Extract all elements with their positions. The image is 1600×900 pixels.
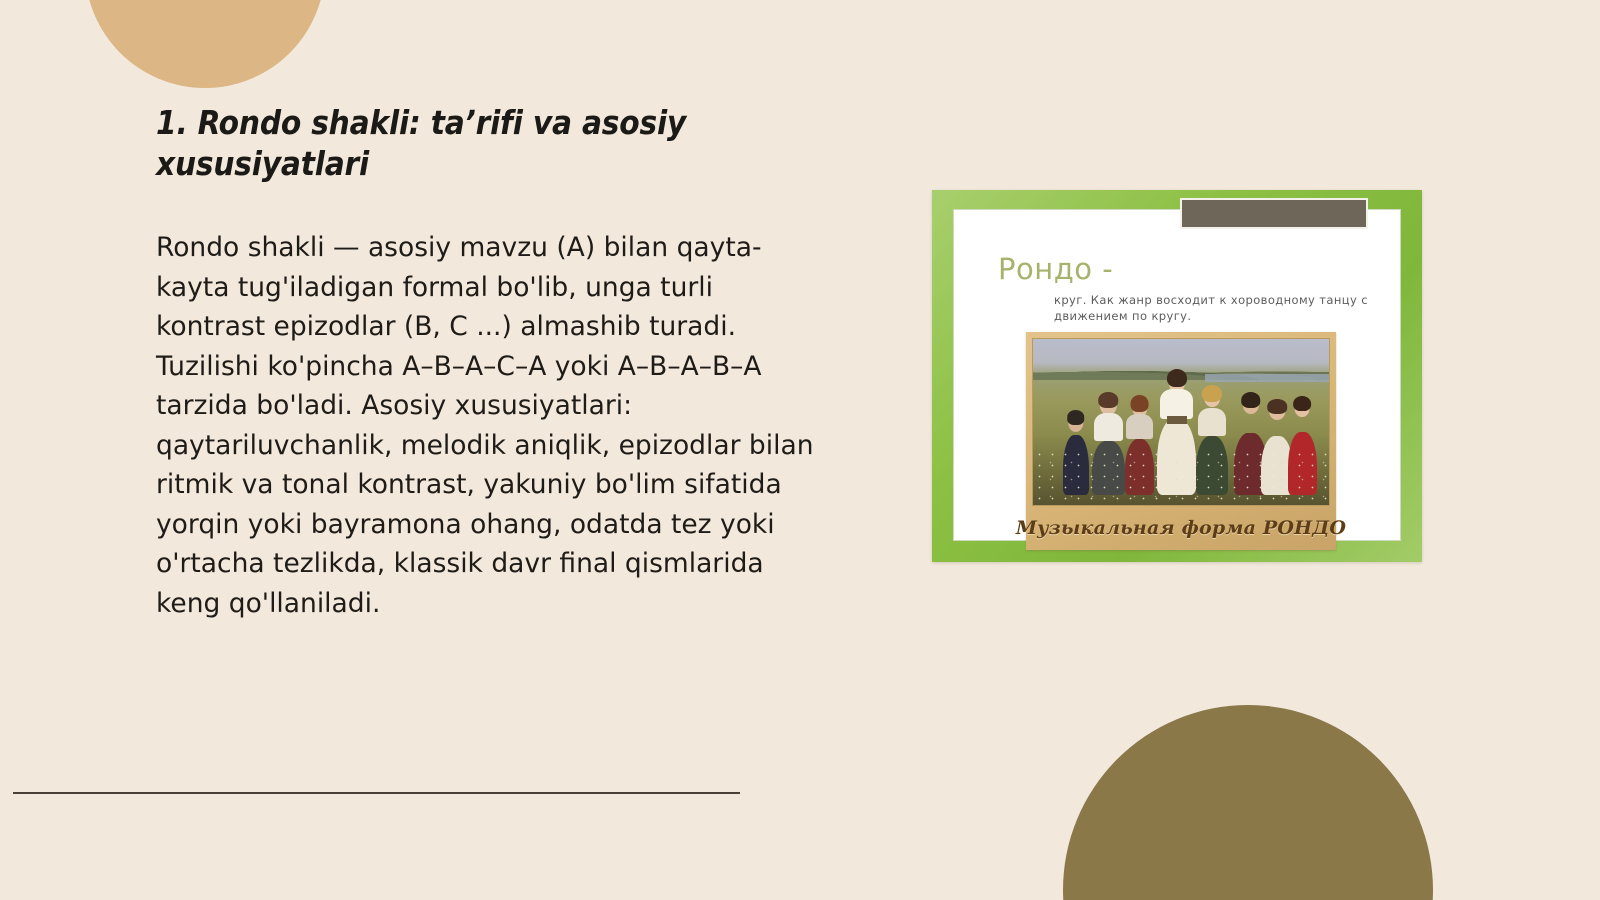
river-horizon bbox=[1205, 374, 1329, 382]
painting-canvas bbox=[1032, 338, 1330, 506]
painting-caption-band: Музыкальная форма РОНДО bbox=[1026, 506, 1336, 550]
painting-caption: Музыкальная форма РОНДО bbox=[1016, 517, 1346, 539]
body-paragraph: Rondo shakli — asosiy mavzu (A) bilan qa… bbox=[156, 228, 824, 623]
decorative-circle-top-left bbox=[85, 0, 325, 88]
painting-frame: Музыкальная форма РОНДО bbox=[1026, 332, 1336, 550]
grey-banner-overlay bbox=[1180, 198, 1368, 229]
decorative-circle-bottom-right bbox=[1063, 705, 1433, 900]
russian-heading: Рондо - bbox=[998, 252, 1113, 286]
text-column: 1. Rondo shakli: ta’rifi va asosiy xusus… bbox=[156, 102, 828, 623]
image-card[interactable]: Рондо - круг. Как жанр восходит к хорово… bbox=[932, 190, 1422, 562]
page-title: 1. Rondo shakli: ta’rifi va asosiy xusus… bbox=[156, 102, 756, 184]
flower-speckles bbox=[1033, 449, 1329, 505]
slide-canvas: 1. Rondo shakli: ta’rifi va asosiy xusus… bbox=[0, 0, 1600, 900]
russian-subtext: круг. Как жанр восходит к хороводному та… bbox=[1054, 292, 1374, 324]
card-inner-white: Рондо - круг. Как жанр восходит к хорово… bbox=[953, 209, 1401, 541]
bottom-divider-rule bbox=[13, 792, 740, 794]
